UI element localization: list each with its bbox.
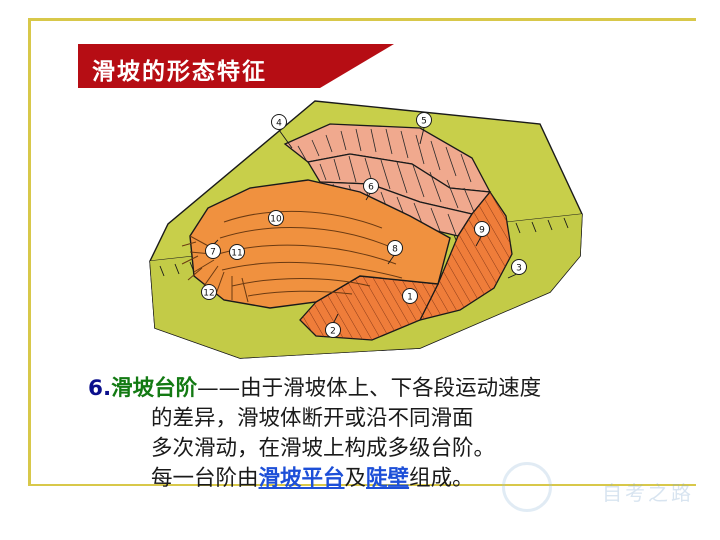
callout-12: 12 <box>202 285 217 300</box>
callout-2-label: 2 <box>330 327 336 337</box>
landslide-morphology-diagram: 1 2 3 4 5 6 7 8 9 10 11 12 <box>120 96 610 366</box>
page-title: 滑坡的形态特征 <box>92 52 267 86</box>
callout-11-label: 11 <box>231 249 242 259</box>
term-landslide-platform: 滑坡平台 <box>259 466 345 491</box>
body-line-4-mid: 及 <box>345 466 367 491</box>
body-line-1-rest: ——由于滑坡体上、下各段运动速度 <box>197 376 541 401</box>
callout-7-label: 7 <box>210 248 216 258</box>
callout-9-label: 9 <box>479 226 485 236</box>
frame-line-top <box>28 18 696 21</box>
slide-root: 滑坡的形态特征 <box>0 0 720 540</box>
body-line-3: 多次滑动，在滑坡上构成多级台阶。 <box>88 434 688 464</box>
callout-3-label: 3 <box>516 264 522 274</box>
callout-10-label: 10 <box>270 215 282 225</box>
body-line-4: 每一台阶由滑坡平台及陡壁组成。 <box>88 464 688 494</box>
callout-1: 1 <box>403 289 418 304</box>
callout-6: 6 <box>364 179 379 194</box>
callout-12-label: 12 <box>203 289 214 299</box>
callout-8: 8 <box>388 241 403 256</box>
body-line-4-post: 组成。 <box>409 466 474 491</box>
callout-11: 11 <box>230 245 245 260</box>
callout-4: 4 <box>272 115 287 130</box>
title-banner: 滑坡的形态特征 <box>78 44 378 88</box>
callout-4-label: 4 <box>276 119 282 129</box>
callout-5-label: 5 <box>421 117 427 127</box>
callout-8-label: 8 <box>392 245 398 255</box>
callout-3: 3 <box>512 260 527 275</box>
callout-1-label: 1 <box>407 293 413 303</box>
callout-9: 9 <box>475 222 490 237</box>
body-text-block: 6.滑坡台阶——由于滑坡体上、下各段运动速度 的差异，滑坡体断开或沿不同滑面 多… <box>88 374 688 494</box>
term-steep-wall: 陡壁 <box>366 466 409 491</box>
callout-6-label: 6 <box>368 183 374 193</box>
frame-line-left <box>28 18 31 486</box>
callout-2: 2 <box>326 323 341 338</box>
callout-7: 7 <box>206 244 221 259</box>
body-line-4-pre: 每一台阶由 <box>151 466 259 491</box>
term-landslide-step: 滑坡台阶 <box>111 376 197 401</box>
callout-5: 5 <box>417 113 432 128</box>
list-number: 6. <box>88 376 111 401</box>
callout-10: 10 <box>269 211 284 226</box>
body-line-2: 的差异，滑坡体断开或沿不同滑面 <box>88 404 688 434</box>
banner-arrow-shape <box>320 44 394 88</box>
body-line-1: 6.滑坡台阶——由于滑坡体上、下各段运动速度 <box>88 374 688 404</box>
